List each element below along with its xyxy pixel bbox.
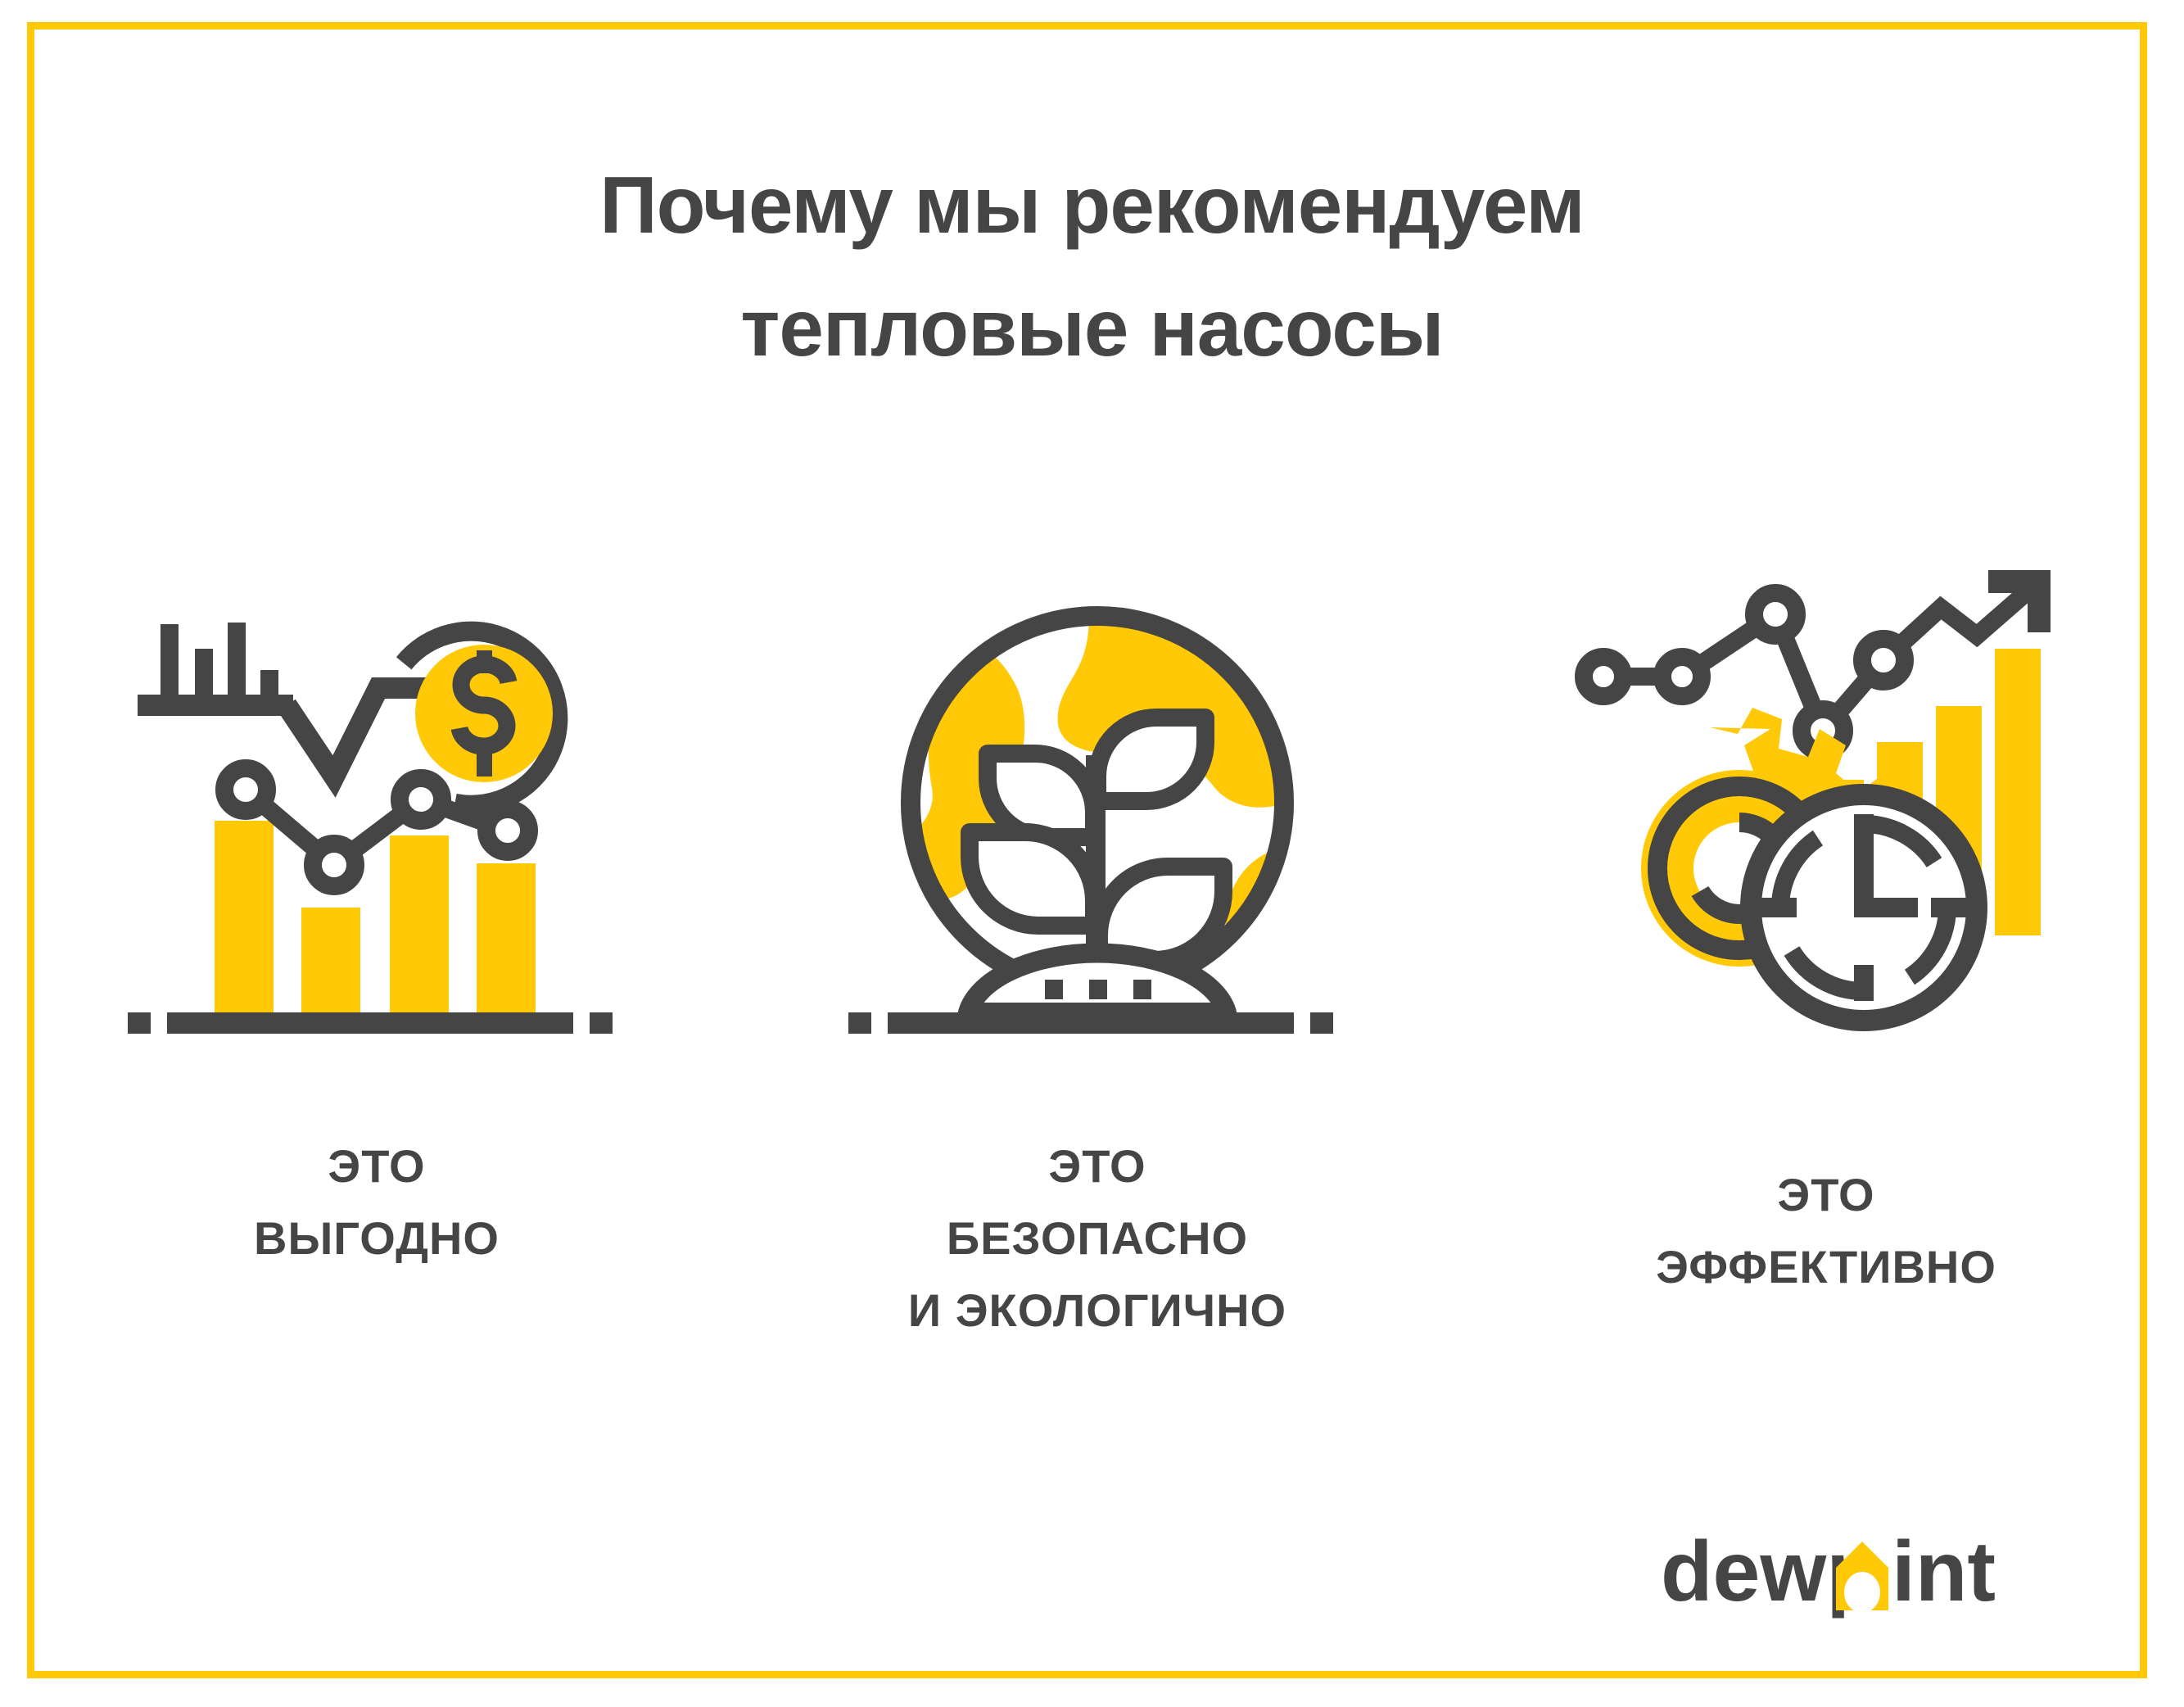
caption-profitable: ЭТО ВЫГОДНО bbox=[49, 1130, 704, 1275]
title-line-2: тепловые насосы bbox=[0, 266, 2184, 389]
logo-text-after: int bbox=[1892, 1525, 1996, 1619]
benefit-column-efficient: ЭТО ЭФФЕКТИВНО bbox=[1499, 524, 2154, 1425]
caption-line: ВЫГОДНО bbox=[49, 1202, 704, 1275]
title-line-1: Почему мы рекомендуем bbox=[0, 143, 2184, 266]
poster: Почему мы рекомендуем тепловые насосы bbox=[0, 0, 2184, 1707]
caption-line: БЕЗОПАСНО bbox=[770, 1202, 1425, 1275]
benefit-columns: ЭТО ВЫГОДНО bbox=[0, 524, 2184, 1425]
caption-eco: ЭТО БЕЗОПАСНО И ЭКОЛОГИЧНО bbox=[770, 1130, 1425, 1347]
benefit-column-profitable: ЭТО ВЫГОДНО bbox=[49, 524, 704, 1425]
caption-line: ЭТО bbox=[770, 1130, 1425, 1202]
caption-line: ЭТО bbox=[49, 1130, 704, 1202]
caption-line: ЭТО bbox=[1499, 1159, 2154, 1231]
globe-plant-eco-icon bbox=[770, 524, 1425, 1048]
gear-clock-growth-icon bbox=[1499, 524, 2154, 1048]
caption-line: ЭФФЕКТИВНО bbox=[1499, 1231, 2154, 1303]
profit-chart-dollar-icon bbox=[49, 524, 704, 1048]
caption-efficient: ЭТО ЭФФЕКТИВНО bbox=[1499, 1159, 2154, 1303]
benefit-column-eco: ЭТО БЕЗОПАСНО И ЭКОЛОГИЧНО bbox=[770, 524, 1425, 1425]
page-title: Почему мы рекомендуем тепловые насосы bbox=[0, 143, 2184, 389]
brand-logo[interactable]: dewp int bbox=[1661, 1525, 2054, 1623]
caption-line: И ЭКОЛОГИЧНО bbox=[770, 1275, 1425, 1347]
